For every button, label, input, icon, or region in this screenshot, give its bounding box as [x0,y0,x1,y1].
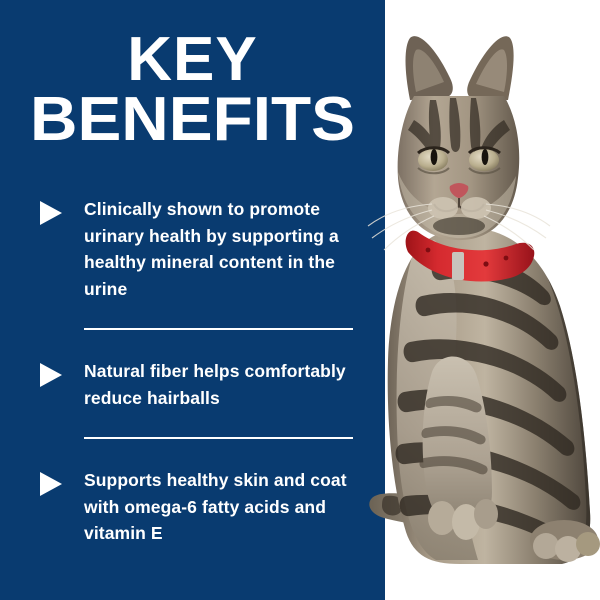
cat-head [368,36,550,250]
cat-photo [310,0,600,600]
triangle-right-icon [40,472,62,496]
triangle-right-icon [40,363,62,387]
promo-graphic: KEY BENEFITS Clinically shown to promote… [0,0,600,600]
triangle-right-icon [40,201,62,225]
